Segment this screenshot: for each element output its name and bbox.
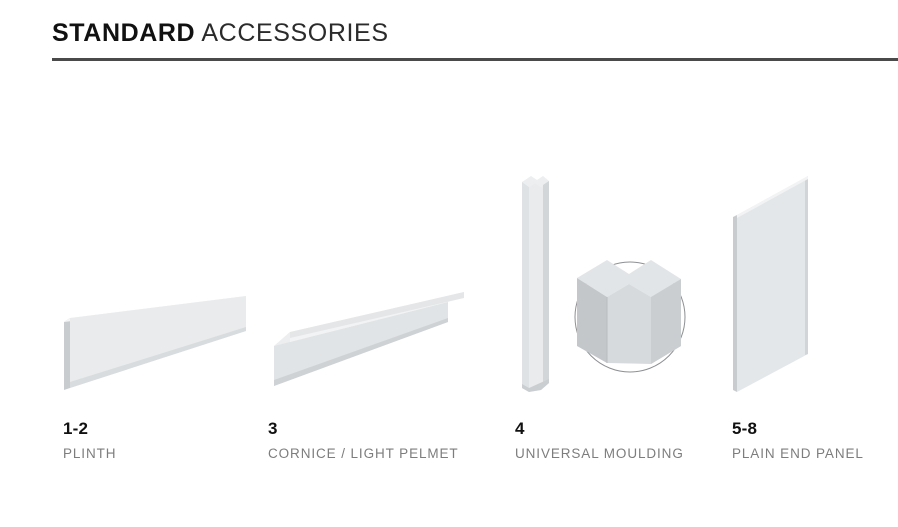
moulding-left-face [522, 182, 529, 392]
moulding-caption: 4 UNIVERSAL MOULDING [515, 418, 684, 464]
moulding-label: UNIVERSAL MOULDING [515, 444, 684, 464]
plinth-caption: 1-2 PLINTH [63, 418, 116, 464]
plinth-number: 1-2 [63, 418, 116, 440]
cornice-number: 3 [268, 418, 459, 440]
plinth-illustration [62, 150, 262, 400]
end-panel-number: 5-8 [732, 418, 864, 440]
accessory-item-cornice: 3 CORNICE / LIGHT PELMET [268, 150, 468, 400]
universal-moulding-illustration [515, 150, 715, 400]
page-title-bold: STANDARD [52, 19, 195, 47]
end-panel-illustration [732, 150, 892, 400]
cornice-illustration [268, 150, 468, 400]
page-header: STANDARD ACCESSORIES [52, 18, 898, 48]
accessory-item-plinth: 1-2 PLINTH [62, 150, 262, 400]
accessory-item-plain-end-panel: 5-8 PLAIN END PANEL [732, 150, 892, 400]
end-panel-face [737, 176, 808, 392]
end-panel-edge-face [733, 215, 737, 392]
title-divider [52, 58, 898, 61]
end-panel-right-edge [805, 176, 808, 355]
moulding-detail-callout [575, 260, 685, 372]
page-title-light: ACCESSORIES [195, 19, 388, 47]
end-panel-label: PLAIN END PANEL [732, 444, 864, 464]
cornice-caption: 3 CORNICE / LIGHT PELMET [268, 418, 459, 464]
plinth-end-face [64, 318, 70, 390]
cornice-label: CORNICE / LIGHT PELMET [268, 444, 459, 464]
page-title: STANDARD ACCESSORIES [52, 18, 898, 48]
moulding-right-edge-shade [543, 181, 549, 387]
plinth-label: PLINTH [63, 444, 116, 464]
end-panel-caption: 5-8 PLAIN END PANEL [732, 418, 864, 464]
moulding-number: 4 [515, 418, 684, 440]
accessory-item-universal-moulding: 4 UNIVERSAL MOULDING [515, 150, 715, 400]
